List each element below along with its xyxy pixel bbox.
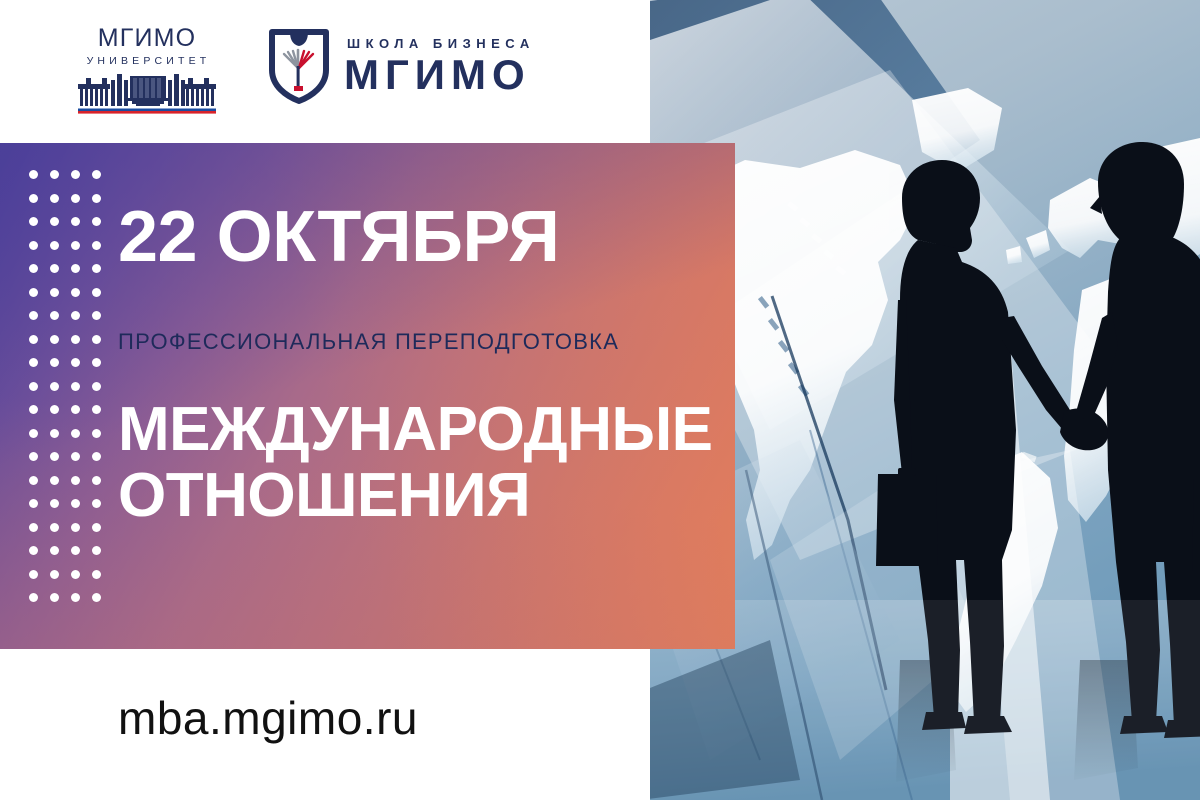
business-school-logo-top: ШКОЛА БИЗНЕСА	[347, 37, 535, 50]
dot-grid-dot	[71, 593, 80, 602]
panel-text-block: 22 ОКТЯБРЯ ПРОФЕССИОНАЛЬНАЯ ПЕРЕПОДГОТОВ…	[118, 201, 718, 528]
mgimo-building-icon	[78, 72, 216, 114]
dot-grid-dot	[29, 194, 38, 203]
dot-grid-dot	[50, 452, 59, 461]
dot-grid-row	[29, 405, 113, 429]
dot-grid-dot	[29, 523, 38, 532]
dot-grid-row	[29, 452, 113, 476]
business-school-logo-main: МГИМО	[344, 54, 535, 96]
program-title-line-1: МЕЖДУНАРОДНЫЕ	[118, 397, 718, 463]
dot-grid-dot	[50, 570, 59, 579]
dot-grid-row	[29, 476, 113, 500]
dot-grid-dot	[92, 194, 101, 203]
dot-grid-dot	[92, 288, 101, 297]
dot-grid-dot	[29, 382, 38, 391]
header-logos: МГИМО УНИВЕРСИТЕТ	[0, 0, 650, 143]
dot-grid-dot	[29, 217, 38, 226]
shield-torch-icon	[268, 28, 330, 104]
dot-grid-dot	[50, 476, 59, 485]
program-type-subtitle: ПРОФЕССИОНАЛЬНАЯ ПЕРЕПОДГОТОВКА	[118, 331, 718, 353]
dot-grid-dot	[29, 570, 38, 579]
business-school-logo-text: ШКОЛА БИЗНЕСА МГИМО	[344, 37, 535, 96]
footer-area: mba.mgimo.ru	[0, 649, 650, 800]
dot-grid-dot	[92, 405, 101, 414]
dot-grid-row	[29, 523, 113, 547]
dot-grid-dot	[29, 546, 38, 555]
dot-grid-dot	[50, 194, 59, 203]
dot-grid-dot	[50, 241, 59, 250]
dot-grid-row	[29, 194, 113, 218]
dot-grid-dot	[71, 194, 80, 203]
dot-grid-dot	[50, 358, 59, 367]
dot-grid-dot	[92, 264, 101, 273]
dot-grid-dot	[71, 546, 80, 555]
dot-grid-row	[29, 570, 113, 594]
dot-grid-dot	[71, 499, 80, 508]
dot-grid-dot	[29, 499, 38, 508]
dot-grid-dot	[71, 476, 80, 485]
dot-grid-dot	[71, 382, 80, 391]
dot-grid-dot	[71, 405, 80, 414]
dot-grid-row	[29, 217, 113, 241]
dot-grid-dot	[29, 335, 38, 344]
dot-grid-row	[29, 170, 113, 194]
dot-grid-dot	[71, 217, 80, 226]
dot-grid-dot	[50, 288, 59, 297]
dot-grid-dot	[50, 405, 59, 414]
dot-grid-dot	[29, 405, 38, 414]
dot-grid-row	[29, 264, 113, 288]
dot-grid-dot	[29, 593, 38, 602]
mgimo-business-school-logo: ШКОЛА БИЗНЕСА МГИМО	[268, 28, 535, 104]
dot-grid-row	[29, 499, 113, 523]
dot-grid-row	[29, 288, 113, 312]
dot-grid-dot	[50, 264, 59, 273]
dot-grid-dot	[71, 170, 80, 179]
dot-grid-dot	[71, 429, 80, 438]
dot-grid-dot	[50, 523, 59, 532]
dot-grid-dot	[71, 570, 80, 579]
mgimo-university-logo-sub: УНИВЕРСИТЕТ	[81, 56, 216, 67]
gradient-content-panel: 22 ОКТЯБРЯ ПРОФЕССИОНАЛЬНАЯ ПЕРЕПОДГОТОВ…	[0, 143, 735, 649]
program-title-line-2: ОТНОШЕНИЯ	[118, 463, 718, 529]
dot-grid-dot	[92, 476, 101, 485]
event-date: 22 ОКТЯБРЯ	[118, 201, 718, 273]
dot-grid-dot	[92, 358, 101, 367]
dot-grid-dot	[50, 429, 59, 438]
dot-grid-row	[29, 593, 113, 617]
dot-grid-dot	[29, 358, 38, 367]
dot-grid-dot	[92, 593, 101, 602]
poster-canvas: МГИМО УНИВЕРСИТЕТ	[0, 0, 1200, 800]
dot-grid-dot	[92, 241, 101, 250]
dot-grid-row	[29, 335, 113, 359]
dot-grid-dot	[92, 335, 101, 344]
dot-grid-dot	[50, 170, 59, 179]
dot-grid-dot	[29, 311, 38, 320]
dot-grid-dot	[50, 382, 59, 391]
dot-grid-dot	[50, 335, 59, 344]
dot-grid-dot	[71, 264, 80, 273]
dot-grid-dot	[92, 217, 101, 226]
dot-grid-dot	[50, 217, 59, 226]
dot-grid-dot	[50, 311, 59, 320]
dot-grid-dot	[71, 523, 80, 532]
dot-grid-dot	[29, 288, 38, 297]
dot-grid-dot	[29, 170, 38, 179]
dot-grid-dot	[92, 382, 101, 391]
dot-grid-row	[29, 358, 113, 382]
dot-grid-dot	[71, 358, 80, 367]
dot-grid-dot	[71, 452, 80, 461]
dot-grid-row	[29, 241, 113, 265]
dot-grid-dot	[50, 499, 59, 508]
dot-grid-dot	[29, 476, 38, 485]
dot-grid-dot	[92, 570, 101, 579]
program-title: МЕЖДУНАРОДНЫЕ ОТНОШЕНИЯ	[118, 397, 718, 528]
dot-grid-decoration	[29, 170, 113, 617]
dot-grid-dot	[71, 311, 80, 320]
dot-grid-dot	[29, 452, 38, 461]
dot-grid-dot	[71, 335, 80, 344]
dot-grid-dot	[29, 429, 38, 438]
dot-grid-dot	[50, 593, 59, 602]
dot-grid-dot	[92, 429, 101, 438]
dot-grid-dot	[92, 523, 101, 532]
dot-grid-row	[29, 311, 113, 335]
mgimo-university-logo: МГИМО УНИВЕРСИТЕТ	[78, 26, 216, 114]
dot-grid-dot	[71, 241, 80, 250]
dot-grid-dot	[92, 452, 101, 461]
dot-grid-dot	[92, 546, 101, 555]
dot-grid-dot	[92, 311, 101, 320]
dot-grid-dot	[92, 499, 101, 508]
dot-grid-dot	[92, 170, 101, 179]
dot-grid-dot	[71, 288, 80, 297]
dot-grid-dot	[29, 241, 38, 250]
dot-grid-row	[29, 546, 113, 570]
dot-grid-dot	[29, 264, 38, 273]
dot-grid-row	[29, 429, 113, 453]
dot-grid-dot	[50, 546, 59, 555]
mgimo-university-logo-main: МГИМО	[78, 26, 216, 51]
dot-grid-row	[29, 382, 113, 406]
website-url-link[interactable]: mba.mgimo.ru	[118, 695, 418, 741]
